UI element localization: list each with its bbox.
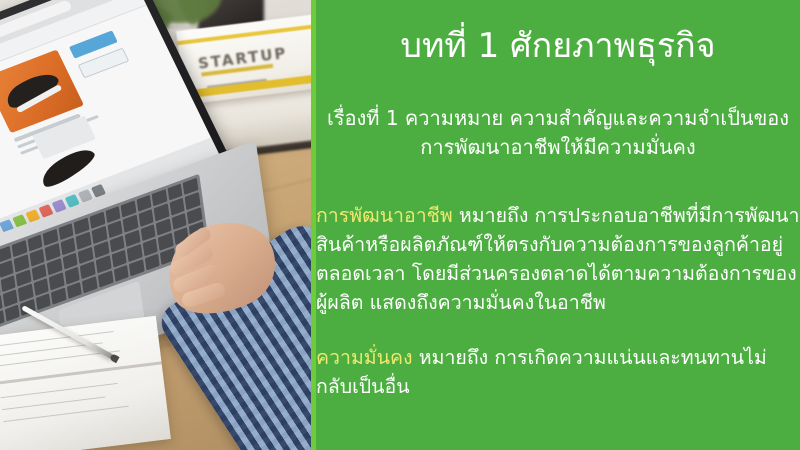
notebook-center-fold <box>0 361 162 385</box>
highlight-term: การพัฒนาอาชีพ <box>316 204 453 227</box>
content-panel: บทที่ 1 ศักยภาพธุรกิจ เรื่องที่ 1 ความหม… <box>316 0 800 450</box>
open-notebook <box>0 316 171 450</box>
slide-subtitle: เรื่องที่ 1 ความหมาย ความสำคัญและความจำเ… <box>322 104 794 162</box>
decorative-photo: STARTUP <box>0 0 313 450</box>
body-paragraph: การพัฒนาอาชีพ หมายถึง การประกอบอาชีพที่ม… <box>316 201 800 317</box>
notebook-rule-line <box>0 331 113 347</box>
shoe-graphic <box>2 67 63 112</box>
highlight-term: ความมั่นคง <box>316 346 413 369</box>
notebook-rule-line <box>3 406 128 422</box>
slide-canvas: STARTUP <box>0 0 800 450</box>
notebook-rule-line <box>2 396 105 410</box>
page-title: บทที่ 1 ศักยภาพธุรกิจ <box>316 24 800 68</box>
body-paragraph: ความมั่นคง หมายถึง การเกิดความแน่นและทนท… <box>316 343 800 401</box>
notebook-rule-line <box>1 383 118 398</box>
